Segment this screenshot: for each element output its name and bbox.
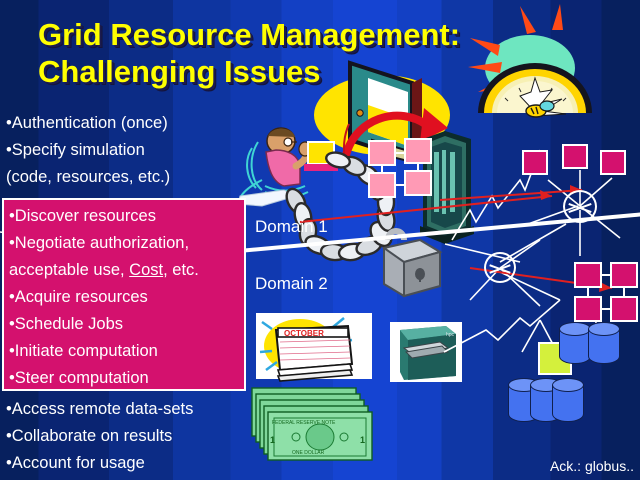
bullet-item: •Authentication (once) — [6, 110, 170, 137]
bullet-item: •Discover resources — [9, 203, 244, 230]
bullet-item: •Steer computation — [9, 365, 244, 391]
bullet-item-cost: acceptable use, Cost, etc. — [9, 257, 244, 284]
highlight-box: •Discover resources •Negotiate authoriza… — [2, 198, 246, 391]
resource-node — [610, 296, 638, 322]
bullet-item: (code, resources, etc.) — [6, 164, 170, 191]
resource-node — [574, 296, 602, 322]
resource-node — [404, 138, 432, 164]
resource-node — [404, 170, 432, 196]
database-cylinder — [588, 322, 620, 364]
slide-canvas: Grid Resource Management: Challenging Is… — [0, 0, 640, 480]
resource-node — [574, 262, 602, 288]
bullet-item: •Account for usage — [6, 450, 193, 477]
resource-node — [368, 172, 396, 198]
database-cylinder — [559, 322, 591, 364]
bullet-item: •Negotiate authorization, — [9, 230, 244, 257]
bullet-item: •Specify simulation — [6, 137, 170, 164]
svg-text:ONE DOLLAR: ONE DOLLAR — [292, 450, 325, 456]
cost-line-prefix: acceptable use, — [9, 261, 129, 279]
resource-node — [562, 144, 588, 169]
node-link — [396, 152, 405, 154]
node-link — [623, 288, 625, 297]
resource-node — [610, 262, 638, 288]
domain-2-label: Domain 2 — [255, 274, 328, 294]
svg-text:FEDERAL RESERVE NOTE: FEDERAL RESERVE NOTE — [272, 420, 336, 426]
cost-link[interactable]: Cost — [129, 261, 163, 279]
network-switch — [563, 190, 597, 223]
svg-text:1: 1 — [270, 435, 275, 445]
svg-text:OCTOBER: OCTOBER — [284, 329, 324, 338]
domain-1-label: Domain 1 — [255, 217, 328, 237]
resource-node — [522, 150, 548, 175]
database-cylinder — [552, 378, 584, 422]
resource-node — [600, 150, 626, 175]
bullet-list-highlight: •Discover resources •Negotiate authoriza… — [4, 200, 244, 391]
bullet-item: •Schedule Jobs — [9, 311, 244, 338]
network-switch — [484, 252, 516, 283]
node-link — [602, 274, 611, 276]
acknowledgement-text: Ack.: globus.. — [550, 458, 634, 474]
cost-line-suffix: , etc. — [163, 261, 199, 279]
bullet-item: •Acquire resources — [9, 284, 244, 311]
bullet-item: •Collaborate on results — [6, 423, 193, 450]
bullet-list-bottom: •Access remote data-sets •Collaborate on… — [6, 396, 193, 477]
node-link — [396, 184, 405, 186]
resource-node — [368, 140, 396, 166]
svg-text:hpc: hpc — [446, 332, 455, 338]
node-link — [587, 288, 589, 297]
bullet-item: •Initiate computation — [9, 338, 244, 365]
node-link — [602, 308, 611, 310]
bullet-item: •Access remote data-sets — [6, 396, 193, 423]
node-link — [381, 166, 383, 173]
svg-text:1: 1 — [360, 435, 365, 445]
node-link — [417, 164, 419, 171]
bullet-list-top: •Authentication (once) •Specify simulati… — [6, 110, 170, 191]
